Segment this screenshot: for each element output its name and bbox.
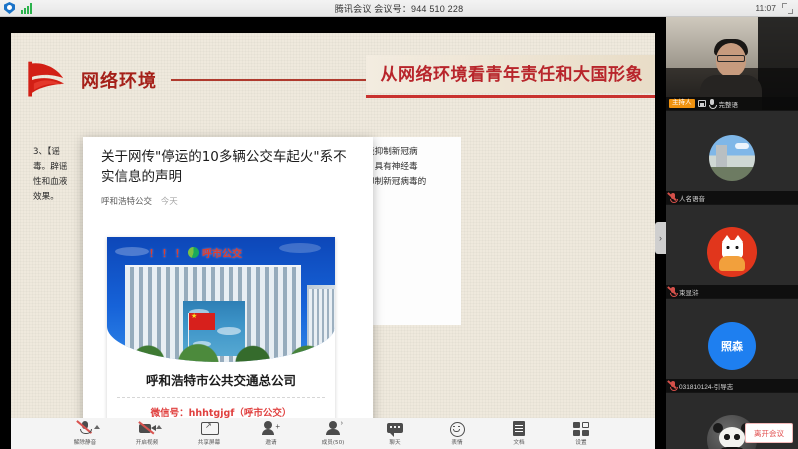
image-caption: 呼和浩特市公共交通总公司	[107, 370, 335, 389]
participant-tile[interactable]: 主持人 完整语	[666, 17, 798, 111]
toolbar-label: 开启视频	[136, 438, 158, 446]
toolbar-item-mute[interactable]: 解除静音	[62, 421, 108, 446]
building-sign-text: 呼市公交	[202, 245, 242, 260]
toolbar-item-share-screen[interactable]: 共享屏幕	[186, 421, 232, 446]
toolbar-label: 共享屏幕	[198, 438, 220, 446]
participant-tile[interactable]: 照森 031810124-引导志	[666, 299, 798, 393]
document-icon	[510, 421, 528, 436]
bus-company-logo-icon	[188, 247, 199, 258]
article-card[interactable]: 关于网传"停运的10多辆公交车起火"系不实信息的声明 呼和浩特公交 今天	[83, 137, 373, 418]
invite-icon: +	[262, 421, 280, 436]
title-rule	[171, 79, 366, 81]
building-photo: ！！！ 呼市公交	[107, 237, 335, 362]
participant-nameband: 束显浒	[666, 285, 798, 298]
article-source: 呼和浩特公交	[101, 197, 152, 207]
article-title: 关于网传"停运的10多辆公交车起火"系不实信息的声明	[101, 147, 351, 187]
screen-share-icon	[698, 100, 706, 107]
participant-nameband: 031810124-引导志	[666, 379, 798, 392]
toolbar-item-settings[interactable]: 设置	[558, 422, 604, 446]
participant-tile[interactable]: 束显浒 正在讲话: 束显浒 ◂◂	[666, 205, 798, 299]
mic-muted-icon	[669, 287, 676, 296]
participant-name: 031810124-引导志	[679, 381, 733, 391]
share-screen-icon	[200, 421, 218, 436]
toolbar-label: 文档	[513, 438, 524, 446]
toolbar-label: 表情	[451, 438, 462, 446]
slide-section-title: 网络环境	[81, 67, 157, 93]
toolbar-label: 解除静音	[74, 438, 96, 446]
building-sign: ！！！ 呼市公交	[149, 245, 289, 260]
toolbar-item-video[interactable]: 开启视频	[124, 421, 170, 446]
mic-muted-icon	[669, 381, 676, 390]
members-icon: ›	[324, 421, 342, 436]
emoji-icon	[448, 421, 466, 436]
participant-nameband: 主持人 完整语	[666, 97, 798, 110]
participant-name: 束显浒	[679, 287, 699, 297]
rail-collapse-handle[interactable]: ›	[655, 222, 666, 254]
avatar	[709, 135, 755, 181]
toolbar-item-document[interactable]: 文档	[496, 421, 542, 446]
participant-nameband: 人名语音	[666, 191, 798, 204]
meeting-stage: 网络环境 从网络环境看青年责任和大国形象 3、【谣 毒。辟谣 性和血液 效果。 …	[0, 17, 798, 449]
leave-meeting-button[interactable]: 离开会议	[745, 423, 793, 443]
trees	[107, 336, 335, 362]
meeting-toolbar[interactable]: 解除静音 开启视频 共享屏幕 + 邀请 › 成员(50) 聊天 表情	[11, 418, 655, 449]
divider	[117, 397, 325, 398]
toolbar-item-emoji[interactable]: 表情	[434, 421, 480, 446]
avatar	[707, 227, 757, 277]
toolbar-item-members[interactable]: › 成员(50)	[310, 421, 356, 446]
toolbar-item-chat[interactable]: 聊天	[372, 421, 418, 446]
slide-banner-title: 从网络环境看青年责任和大国形象	[381, 60, 644, 85]
participants-rail[interactable]: 主持人 完整语 人名语音 束显浒 正在讲话: 束显浒 ◂◂	[666, 17, 798, 449]
toolbar-label: 成员(50)	[322, 438, 345, 446]
settings-grid-icon	[573, 422, 589, 436]
toolbar-label: 聊天	[389, 438, 400, 446]
expand-icon[interactable]	[782, 3, 793, 14]
background-text-right: 能抑制新冠病 ，具有神经毒 抑制新冠病毒的	[366, 145, 466, 190]
toolbar-item-invite[interactable]: + 邀请	[248, 421, 294, 446]
article-image-block: ！！！ 呼市公交 呼和浩特市公共交通总公司 微信号：hhhtgjgf（呼市公交）	[107, 237, 335, 418]
participant-name: 人名语音	[679, 193, 705, 203]
mic-muted-icon	[76, 421, 94, 436]
mic-icon	[709, 99, 716, 108]
host-badge: 主持人	[669, 99, 695, 108]
chat-icon	[386, 421, 404, 436]
party-emblem-icon	[21, 56, 76, 104]
wechat-id-line: 微信号：hhhtgjgf（呼市公交）	[107, 405, 335, 418]
toolbar-label: 设置	[575, 438, 586, 446]
mic-muted-icon	[669, 193, 676, 202]
banner-rule	[366, 95, 655, 98]
camera-off-icon	[138, 421, 156, 436]
shared-screen-area[interactable]: 网络环境 从网络环境看青年责任和大国形象 3、【谣 毒。辟谣 性和血液 效果。 …	[11, 33, 655, 418]
article-meta: 呼和浩特公交 今天	[101, 195, 178, 207]
avatar: 照森	[708, 322, 756, 370]
participant-name: 完整语	[719, 99, 739, 109]
window-title-bar: 腾讯会议 会议号：944 510 228 11:07	[0, 0, 798, 17]
app-title: 腾讯会议 会议号：944 510 228	[0, 2, 798, 15]
national-flag	[189, 313, 215, 330]
article-date: 今天	[161, 197, 178, 207]
toolbar-label: 邀请	[265, 438, 276, 446]
participant-tile[interactable]: 人名语音	[666, 111, 798, 205]
